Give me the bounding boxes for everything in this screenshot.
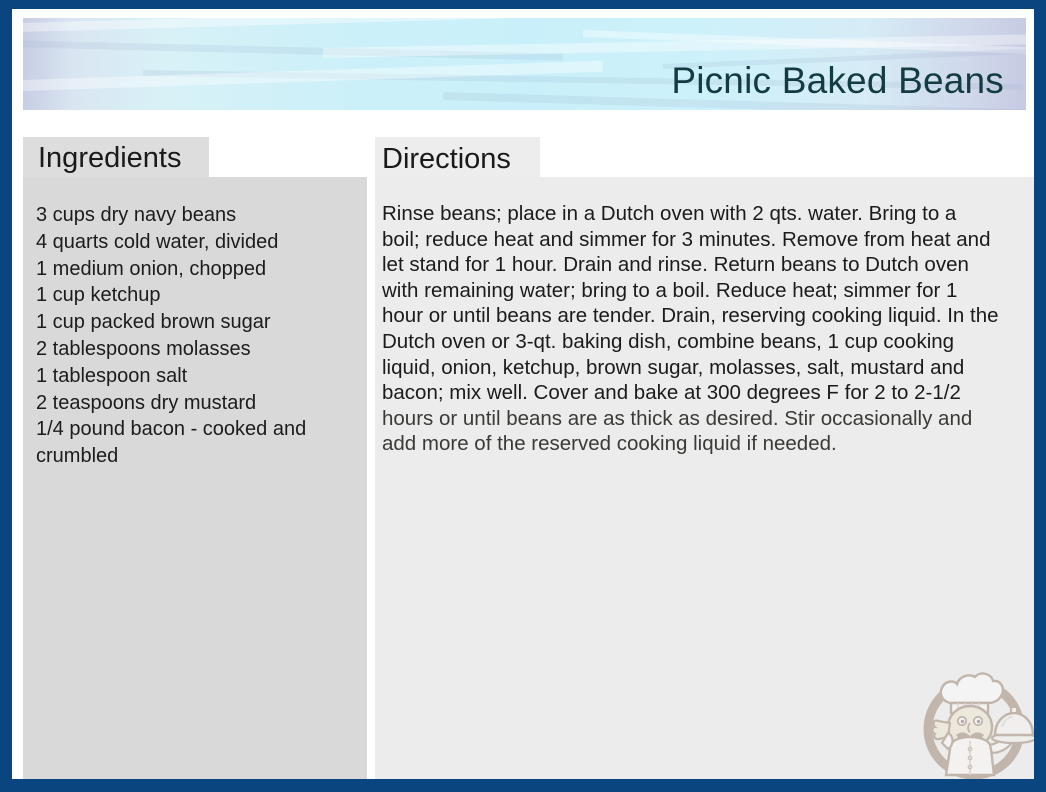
chef-icon xyxy=(910,657,1034,779)
directions-line: boil; reduce heat and simmer for 3 minut… xyxy=(382,227,1030,253)
list-item: 1 tablespoon salt xyxy=(36,363,356,390)
directions-line: Dutch oven or 3-qt. baking dish, combine… xyxy=(382,329,1030,355)
page-title: Picnic Baked Beans xyxy=(671,60,1004,102)
directions-line: hours or until beans are as thick as des… xyxy=(382,406,1030,432)
panel-divider xyxy=(367,177,375,779)
chef-logo: chef-with-cloche-logo xyxy=(910,657,1034,779)
list-item: 1 cup packed brown sugar xyxy=(36,309,356,336)
recipe-slide: Picnic Baked Beans xyxy=(0,0,1046,792)
directions-line: hour or until beans are tender. Drain, r… xyxy=(382,303,1030,329)
directions-line: let stand for 1 hour. Drain and rinse. R… xyxy=(382,252,1030,278)
directions-line: liquid, onion, ketchup, brown sugar, mol… xyxy=(382,355,1030,381)
ingredients-heading: Ingredients xyxy=(38,140,182,176)
list-item: 2 tablespoons molasses xyxy=(36,336,356,363)
list-item: 3 cups dry navy beans xyxy=(36,202,356,229)
ingredients-list: 3 cups dry navy beans 4 quarts cold wate… xyxy=(36,202,356,470)
list-item: 4 quarts cold water, divided xyxy=(36,229,356,256)
slide-canvas: Picnic Baked Beans xyxy=(12,9,1034,779)
directions-heading: Directions xyxy=(382,141,511,177)
list-item: 1 medium onion, chopped xyxy=(36,256,356,283)
directions-text: Rinse beans; place in a Dutch oven with … xyxy=(382,201,1030,457)
list-item: 1/4 pound bacon - cooked and crumbled xyxy=(36,416,356,470)
list-item: 1 cup ketchup xyxy=(36,282,356,309)
list-item: 2 teaspoons dry mustard xyxy=(36,390,356,417)
directions-line: bacon; mix well. Cover and bake at 300 d… xyxy=(382,380,1030,406)
title-banner: Picnic Baked Beans xyxy=(23,18,1026,110)
directions-line: add more of the reserved cooking liquid … xyxy=(382,431,1030,457)
directions-line: with remaining water; bring to a boil. R… xyxy=(382,278,1030,304)
directions-line: Rinse beans; place in a Dutch oven with … xyxy=(382,201,1030,227)
